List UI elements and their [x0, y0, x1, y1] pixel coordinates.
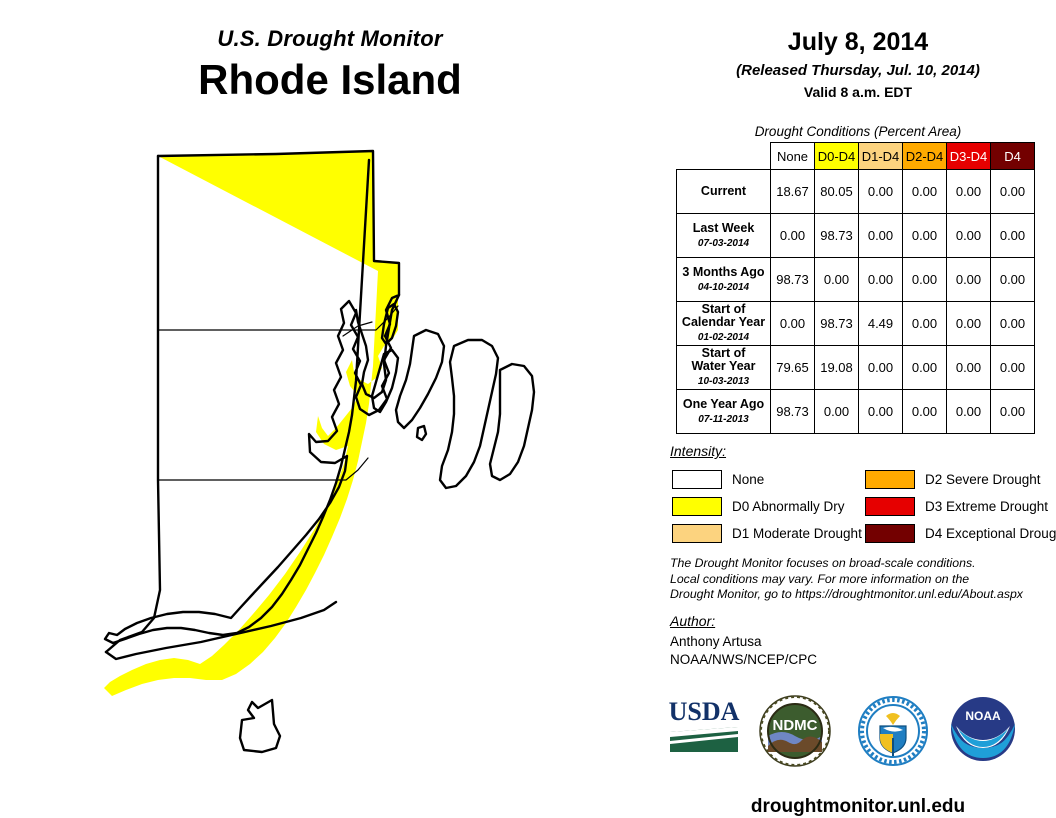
row-label-line: One Year Ago	[677, 398, 770, 411]
note-line-1: The Drought Monitor focuses on broad-sca…	[670, 556, 1050, 572]
ndmc-logo: NDMC	[758, 694, 832, 768]
cell-d4: 0.00	[991, 170, 1035, 214]
table-corner-cell	[677, 143, 771, 170]
legend-swatch	[865, 470, 915, 489]
valid-time: Valid 8 a.m. EDT	[660, 84, 1056, 100]
cell-d3-d4: 0.00	[947, 170, 991, 214]
cell-d1-d4: 0.00	[859, 258, 903, 302]
table-row: Start ofCalendar Year01-02-20140.0098.73…	[677, 302, 1035, 346]
legend-swatch	[865, 497, 915, 516]
author-block: Anthony Artusa NOAA/NWS/NCEP/CPC	[670, 633, 817, 669]
cell-d3-d4: 0.00	[947, 214, 991, 258]
cell-d0-d4: 98.73	[815, 214, 859, 258]
noaa-logo-text: NOAA	[965, 709, 1001, 723]
legend-item: D1 Moderate Drought	[672, 521, 862, 545]
cell-d3-d4: 0.00	[947, 302, 991, 346]
cell-d2-d4: 0.00	[903, 346, 947, 390]
cell-d2-d4: 0.00	[903, 258, 947, 302]
row-label-line: Water Year	[677, 360, 770, 373]
cell-d3-d4: 0.00	[947, 346, 991, 390]
row-label-line: Calendar Year	[677, 316, 770, 329]
row-date: 04-10-2014	[677, 281, 770, 294]
legend-swatch	[672, 524, 722, 543]
site-url: droughtmonitor.unl.edu	[660, 796, 1056, 818]
release-date: (Released Thursday, Jul. 10, 2014)	[660, 62, 1056, 79]
row-label: 3 Months Ago04-10-2014	[677, 258, 771, 302]
program-title: U.S. Drought Monitor	[0, 26, 660, 52]
col-header-d3: D3-D4	[947, 143, 991, 170]
cell-d3-d4: 0.00	[947, 390, 991, 434]
col-header-d2: D2-D4	[903, 143, 947, 170]
legend-item: None	[672, 467, 862, 491]
legend-swatch	[672, 470, 722, 489]
row-label: Start ofWater Year10-03-2013	[677, 346, 771, 390]
row-date: 07-03-2014	[677, 237, 770, 250]
cell-d1-d4: 4.49	[859, 302, 903, 346]
row-label: Start ofCalendar Year01-02-2014	[677, 302, 771, 346]
cell-d1-d4: 0.00	[859, 346, 903, 390]
cell-none: 18.67	[771, 170, 815, 214]
cell-d0-d4: 19.08	[815, 346, 859, 390]
cell-d0-d4: 80.05	[815, 170, 859, 214]
cell-d4: 0.00	[991, 390, 1035, 434]
row-label-line: 3 Months Ago	[677, 266, 770, 279]
valid-date: July 8, 2014	[660, 28, 1056, 57]
map-canvas	[96, 140, 656, 800]
col-header-d1: D1-D4	[859, 143, 903, 170]
author-affiliation: NOAA/NWS/NCEP/CPC	[670, 651, 817, 669]
note-line-2: Local conditions may vary. For more info…	[670, 572, 1050, 588]
row-label-line: Last Week	[677, 222, 770, 235]
note-line-3: Drought Monitor, go to https://droughtmo…	[670, 587, 1050, 603]
cell-d4: 0.00	[991, 214, 1035, 258]
legend-label: D4 Exceptional Drought	[925, 526, 1056, 541]
usda-logo: USDA	[668, 694, 740, 756]
rhode-island-drought-map	[96, 140, 656, 800]
row-label: Last Week07-03-2014	[677, 214, 771, 258]
row-label-line: Current	[677, 185, 770, 198]
legend-label: D3 Extreme Drought	[925, 499, 1048, 514]
cell-none: 98.73	[771, 258, 815, 302]
commerce-seal-logo	[856, 694, 930, 768]
cell-none: 0.00	[771, 302, 815, 346]
row-date: 10-03-2013	[677, 375, 770, 388]
author-name: Anthony Artusa	[670, 633, 817, 651]
legend-title: Intensity:	[670, 443, 1050, 459]
doc-anchor-stem	[892, 738, 894, 756]
table-row: Start ofWater Year10-03-201379.6519.080.…	[677, 346, 1035, 390]
col-header-none: None	[771, 143, 815, 170]
map-title-block: U.S. Drought Monitor Rhode Island	[0, 26, 660, 104]
logo-row: USDA NDMC NOAA	[660, 694, 1056, 770]
legend-item: D2 Severe Drought	[865, 467, 1056, 491]
cell-d2-d4: 0.00	[903, 214, 947, 258]
legend-swatch	[672, 497, 722, 516]
cell-none: 0.00	[771, 214, 815, 258]
legend-item: D4 Exceptional Drought	[865, 521, 1056, 545]
col-header-d0: D0-D4	[815, 143, 859, 170]
cell-d1-d4: 0.00	[859, 214, 903, 258]
table-header-row: None D0-D4 D1-D4 D2-D4 D3-D4 D4	[677, 143, 1035, 170]
cell-d4: 0.00	[991, 346, 1035, 390]
legend-label: D1 Moderate Drought	[732, 526, 862, 541]
row-date: 01-02-2014	[677, 331, 770, 344]
legend-swatch	[865, 524, 915, 543]
legend-item: D3 Extreme Drought	[865, 494, 1056, 518]
legend-label: None	[732, 472, 764, 487]
row-label: Current	[677, 170, 771, 214]
legend-column-left: NoneD0 Abnormally DryD1 Moderate Drought	[672, 467, 862, 548]
noaa-logo: NOAA	[948, 694, 1018, 764]
row-label: One Year Ago07-11-2013	[677, 390, 771, 434]
cell-d4: 0.00	[991, 302, 1035, 346]
cell-d0-d4: 0.00	[815, 258, 859, 302]
table-body: Current18.6780.050.000.000.000.00Last We…	[677, 170, 1035, 434]
table-row: Current18.6780.050.000.000.000.00	[677, 170, 1035, 214]
cell-d4: 0.00	[991, 258, 1035, 302]
cell-d2-d4: 0.00	[903, 390, 947, 434]
cell-d2-d4: 0.00	[903, 302, 947, 346]
cell-d1-d4: 0.00	[859, 390, 903, 434]
legend-item: D0 Abnormally Dry	[672, 494, 862, 518]
table-caption: Drought Conditions (Percent Area)	[660, 124, 1056, 139]
cell-d3-d4: 0.00	[947, 258, 991, 302]
cell-d0-d4: 0.00	[815, 390, 859, 434]
drought-conditions-table: None D0-D4 D1-D4 D2-D4 D3-D4 D4 Current1…	[676, 142, 1035, 434]
author-title: Author:	[670, 613, 715, 629]
legend-column-right: D2 Severe DroughtD3 Extreme DroughtD4 Ex…	[865, 467, 1056, 548]
usda-logo-text: USDA	[669, 697, 740, 726]
state-title: Rhode Island	[0, 56, 660, 104]
disclaimer-notes: The Drought Monitor focuses on broad-sca…	[670, 556, 1050, 603]
cell-d2-d4: 0.00	[903, 170, 947, 214]
cell-none: 98.73	[771, 390, 815, 434]
cell-d0-d4: 98.73	[815, 302, 859, 346]
legend-label: D2 Severe Drought	[925, 472, 1041, 487]
ndmc-logo-text: NDMC	[773, 717, 818, 734]
cell-none: 79.65	[771, 346, 815, 390]
table-row: Last Week07-03-20140.0098.730.000.000.00…	[677, 214, 1035, 258]
date-block: July 8, 2014 (Released Thursday, Jul. 10…	[660, 28, 1056, 100]
col-header-d4: D4	[991, 143, 1035, 170]
legend-label: D0 Abnormally Dry	[732, 499, 845, 514]
intensity-legend: Intensity: NoneD0 Abnormally DryD1 Moder…	[670, 443, 1050, 465]
cell-d1-d4: 0.00	[859, 170, 903, 214]
map-svg	[96, 140, 656, 800]
table-row: One Year Ago07-11-201398.730.000.000.000…	[677, 390, 1035, 434]
row-date: 07-11-2013	[677, 413, 770, 426]
table-row: 3 Months Ago04-10-201498.730.000.000.000…	[677, 258, 1035, 302]
